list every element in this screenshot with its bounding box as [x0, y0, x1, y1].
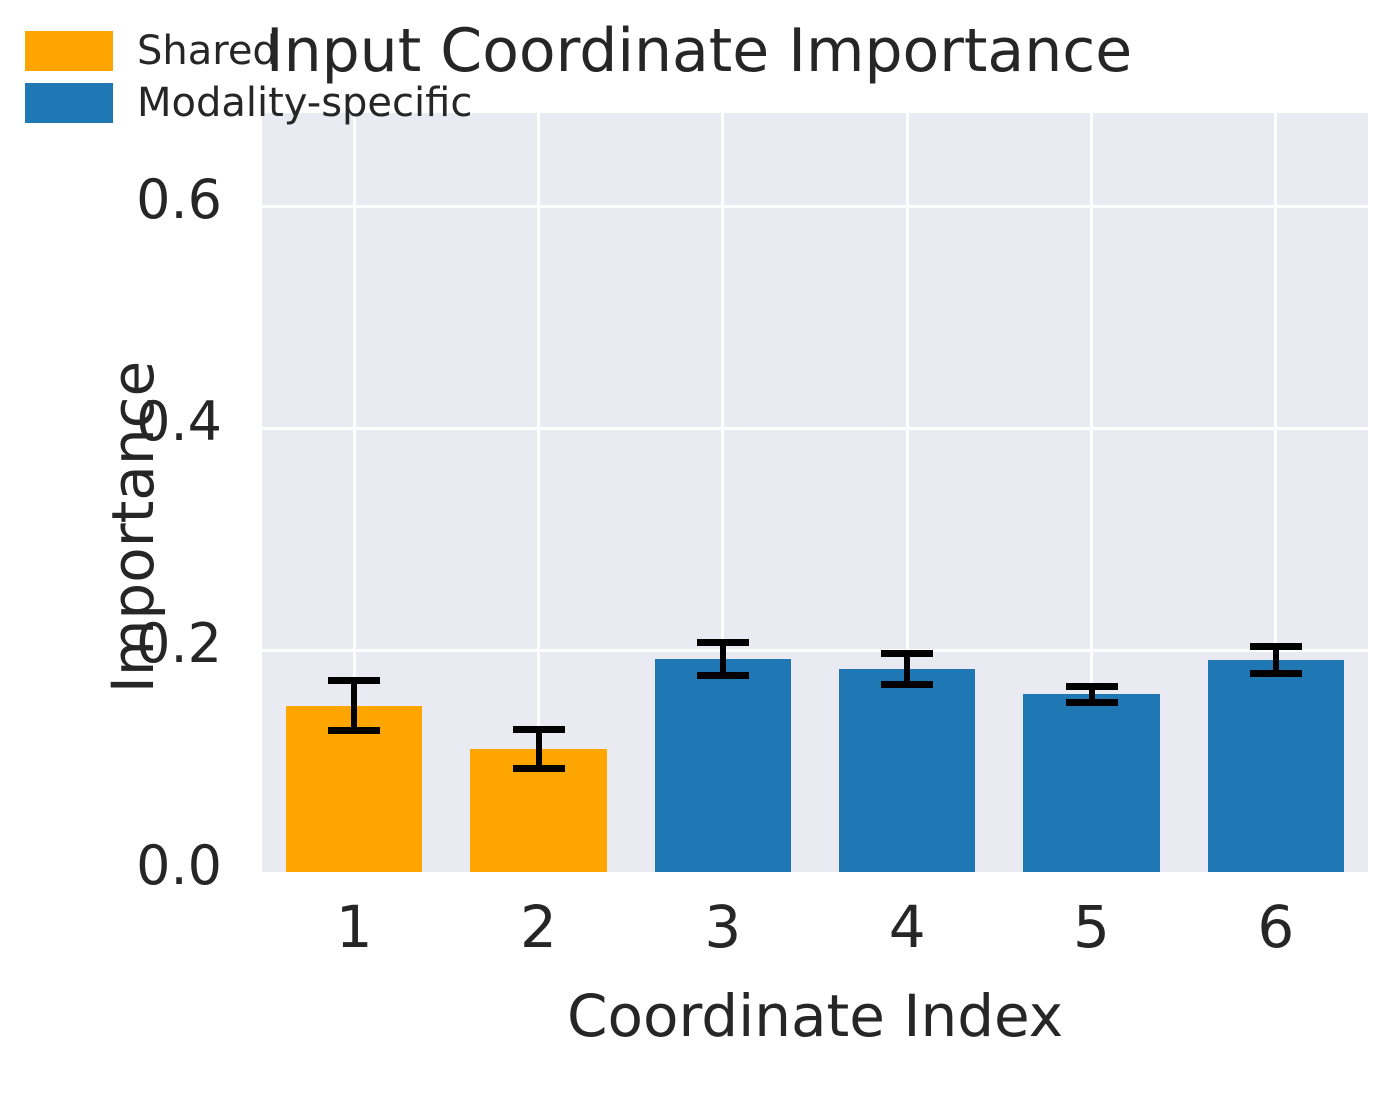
y-tick-label: 0.4 [22, 390, 222, 453]
legend-item: Shared [25, 25, 472, 77]
chart-figure: Input Coordinate Importance Importance C… [0, 0, 1398, 1099]
error-bar [1246, 643, 1306, 676]
bar [655, 659, 791, 872]
error-bar-cap-top [1250, 643, 1302, 650]
x-tick-label: 1 [262, 893, 446, 961]
legend-swatch [25, 83, 113, 123]
error-bar [509, 726, 569, 773]
error-bar-cap-top [328, 677, 380, 684]
x-tick-label: 4 [815, 893, 999, 961]
error-bar [877, 650, 937, 688]
error-bar-cap-bottom [1250, 670, 1302, 677]
bar [1208, 660, 1344, 872]
x-tick-label: 5 [1000, 893, 1184, 961]
y-tick-label: 0.6 [22, 168, 222, 231]
plot-area [262, 113, 1368, 872]
gridline-horizontal [262, 427, 1368, 430]
error-bar-cap-top [513, 726, 565, 733]
error-bar-cap-bottom [513, 765, 565, 772]
y-tick-label: 0.0 [22, 834, 222, 897]
legend-swatch [25, 31, 113, 71]
legend-label: Shared [137, 28, 278, 74]
bar [839, 669, 975, 872]
x-axis-label: Coordinate Index [262, 982, 1368, 1050]
error-bar-cap-top [1066, 683, 1118, 690]
x-tick-label: 6 [1184, 893, 1368, 961]
x-tick-label: 3 [631, 893, 815, 961]
error-bar-cap-bottom [881, 681, 933, 688]
legend-item: Modality-specific [25, 77, 472, 129]
x-tick-label: 2 [447, 893, 631, 961]
error-bar-cap-bottom [697, 672, 749, 679]
y-tick-label: 0.2 [22, 612, 222, 675]
error-bar-cap-bottom [1066, 699, 1118, 706]
y-axis-label: Importance [99, 132, 167, 922]
error-bar [1062, 683, 1122, 705]
gridline-horizontal [262, 649, 1368, 652]
error-bar-line [351, 677, 357, 735]
gridline-horizontal [262, 205, 1368, 208]
bar [1023, 694, 1159, 872]
error-bar-cap-top [881, 650, 933, 657]
error-bar-cap-bottom [328, 727, 380, 734]
legend-label: Modality-specific [137, 80, 472, 126]
chart-legend: SharedModality-specific [25, 25, 472, 129]
error-bar [693, 639, 753, 679]
error-bar [324, 677, 384, 735]
error-bar-cap-top [697, 639, 749, 646]
